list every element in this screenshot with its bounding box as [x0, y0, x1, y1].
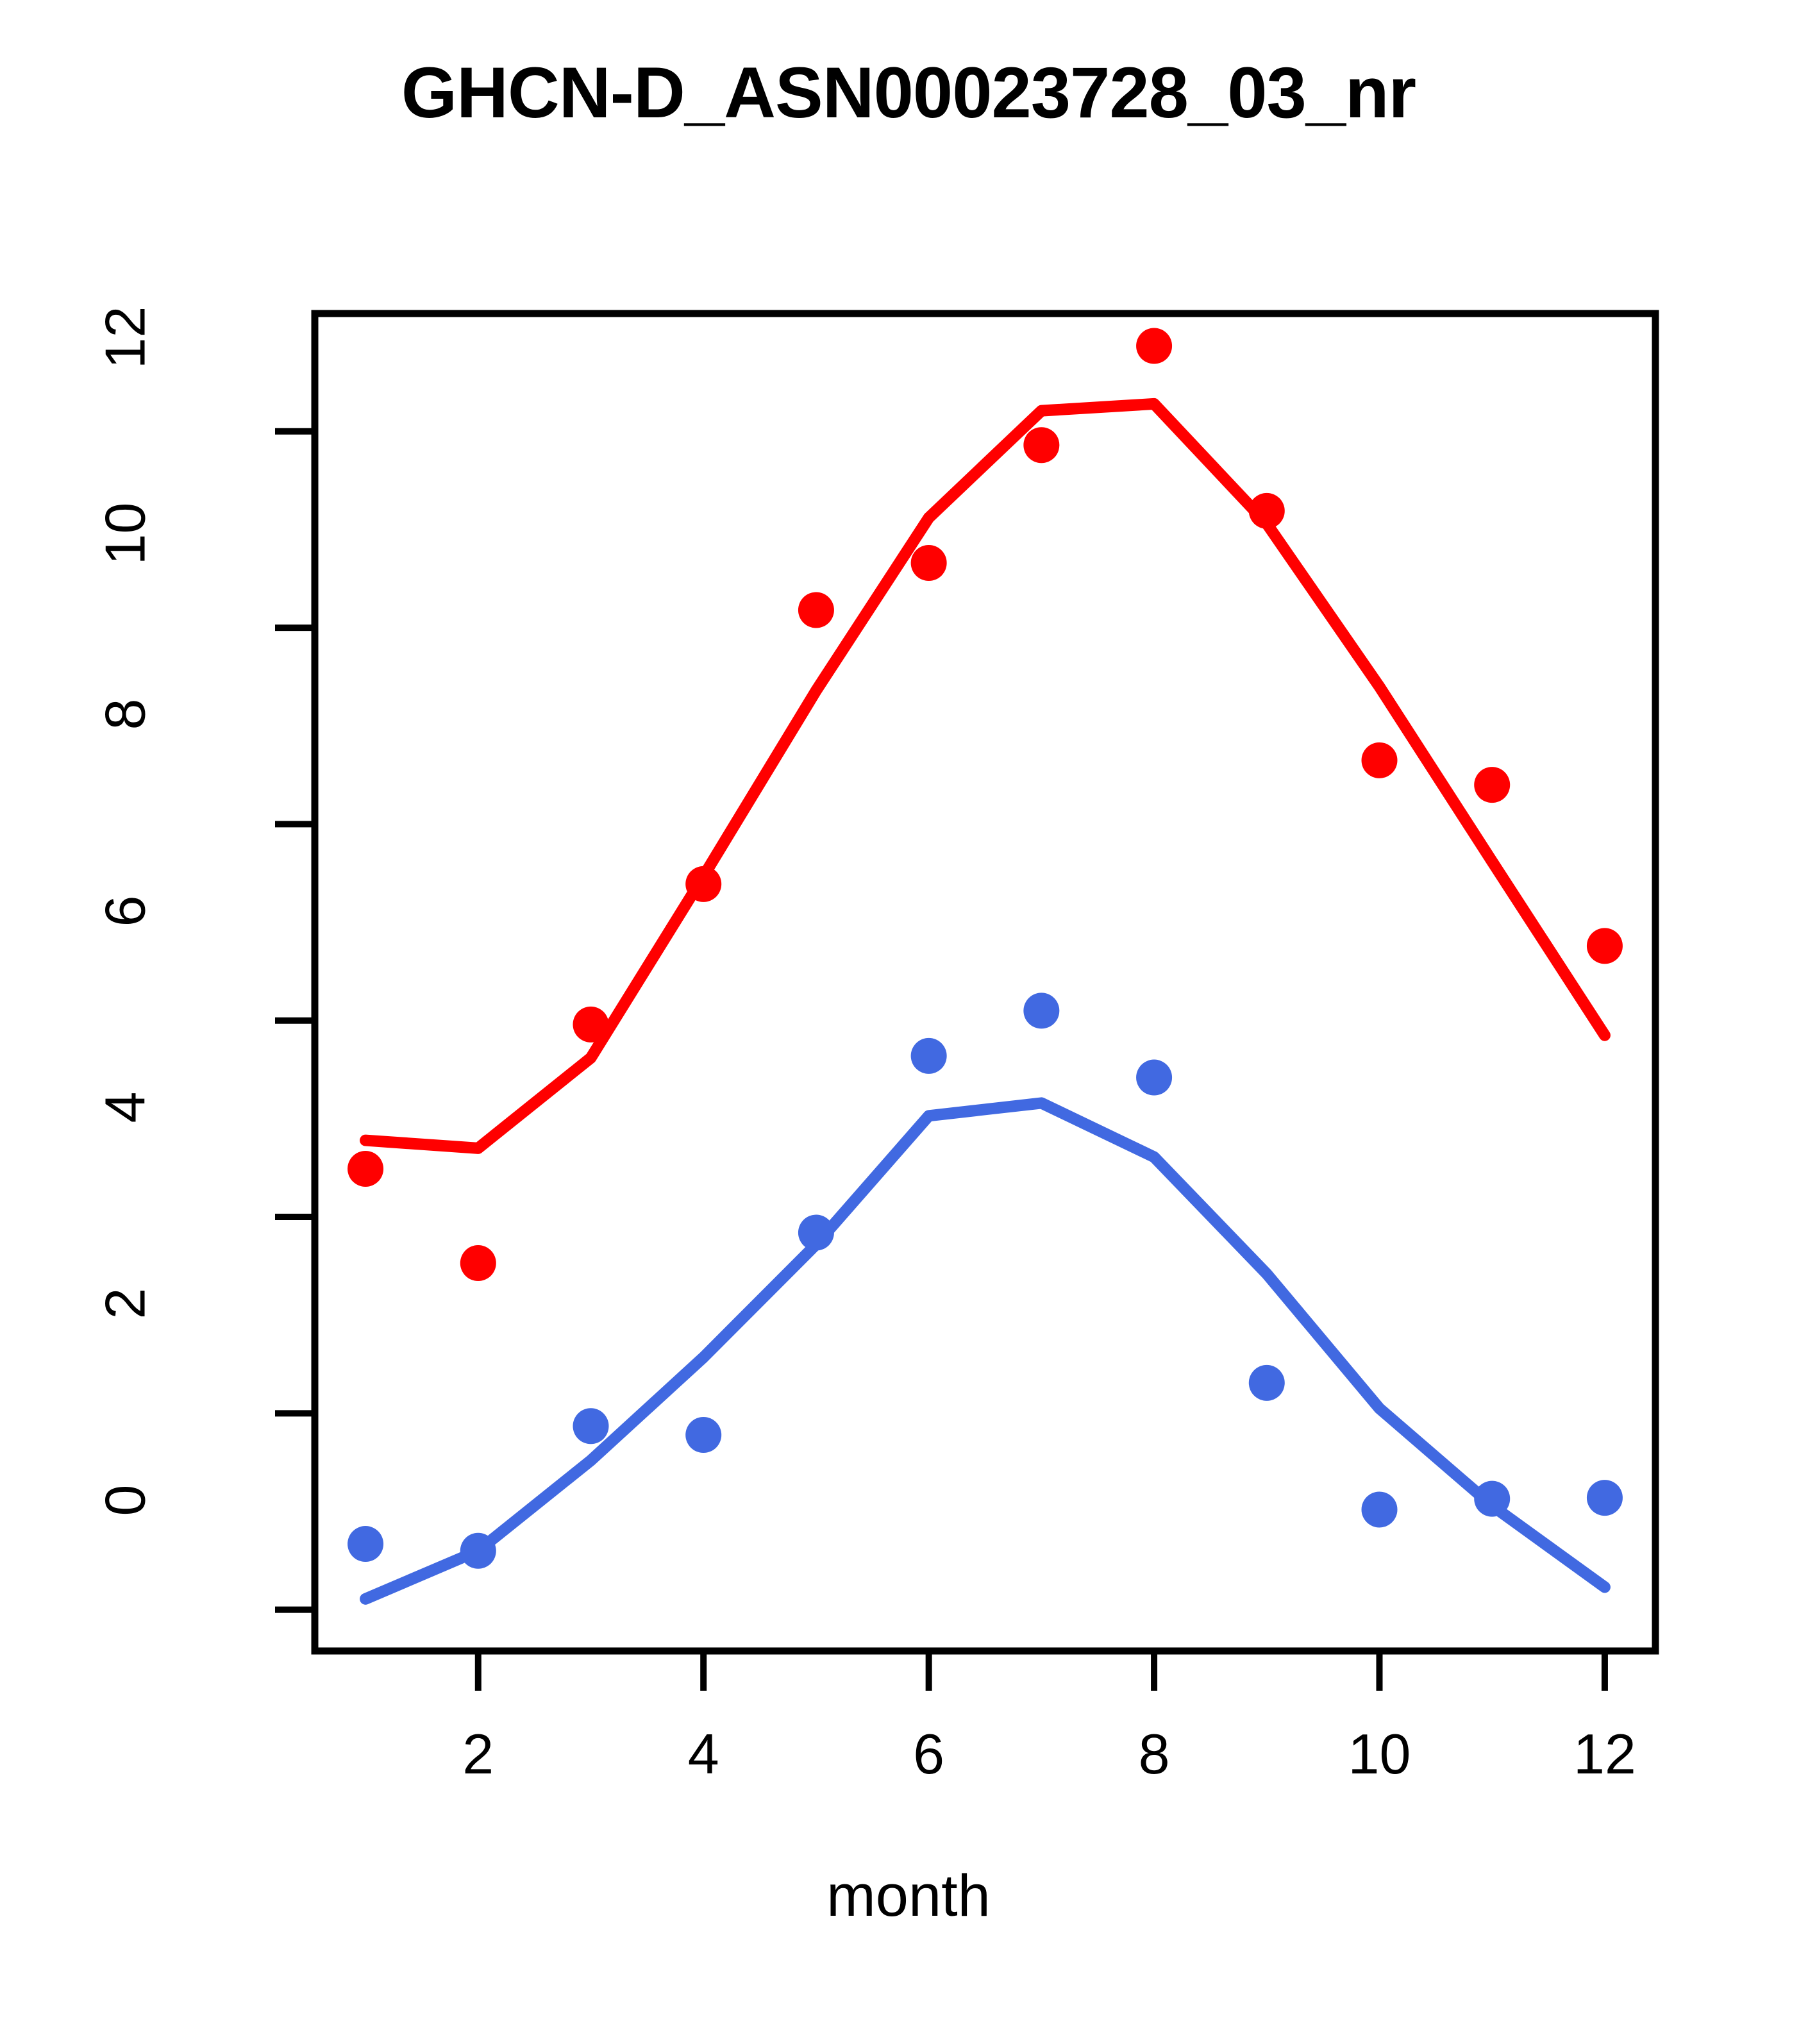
- data-point-upper: [1136, 328, 1172, 364]
- data-point-lower: [460, 1533, 496, 1569]
- x-tick-label: 12: [1573, 1721, 1636, 1787]
- data-point-lower: [798, 1215, 834, 1251]
- data-point-upper: [798, 592, 834, 628]
- data-point-lower: [1587, 1480, 1623, 1516]
- data-point-lower: [1249, 1365, 1285, 1401]
- plot-canvas: [0, 0, 1817, 2044]
- x-tick-label: 10: [1348, 1721, 1411, 1787]
- data-point-upper: [1587, 928, 1623, 964]
- data-point-lower: [685, 1417, 721, 1453]
- data-point-lower: [347, 1526, 383, 1562]
- data-point-lower: [1023, 993, 1059, 1028]
- data-point-upper: [1249, 493, 1285, 529]
- plot-border: [315, 314, 1655, 1651]
- x-tick-label: 2: [462, 1721, 494, 1787]
- data-point-upper: [1474, 767, 1510, 803]
- series-line-upper: [365, 404, 1605, 1148]
- x-tick-label: 8: [1139, 1721, 1170, 1787]
- data-point-upper: [1023, 427, 1059, 463]
- data-point-upper: [573, 1007, 609, 1043]
- x-tick-label: 4: [688, 1721, 719, 1787]
- data-point-lower: [911, 1038, 947, 1074]
- x-tick-label: 6: [913, 1721, 944, 1787]
- x-axis-label: month: [0, 1863, 1817, 1930]
- y-tick-label: 12: [93, 306, 158, 557]
- data-point-lower: [1136, 1060, 1172, 1096]
- series-line-lower: [365, 1103, 1605, 1598]
- data-point-upper: [685, 866, 721, 902]
- data-point-upper: [347, 1151, 383, 1187]
- data-point-upper: [911, 545, 947, 581]
- data-point-lower: [573, 1408, 609, 1444]
- data-point-lower: [1474, 1481, 1510, 1517]
- data-point-upper: [1362, 742, 1398, 778]
- chart-page: GHCN-D_ASN00023728_03_nr 24681012 024681…: [0, 0, 1817, 2044]
- series-layer: [347, 328, 1623, 1599]
- data-point-lower: [1362, 1491, 1398, 1527]
- data-point-upper: [460, 1245, 496, 1281]
